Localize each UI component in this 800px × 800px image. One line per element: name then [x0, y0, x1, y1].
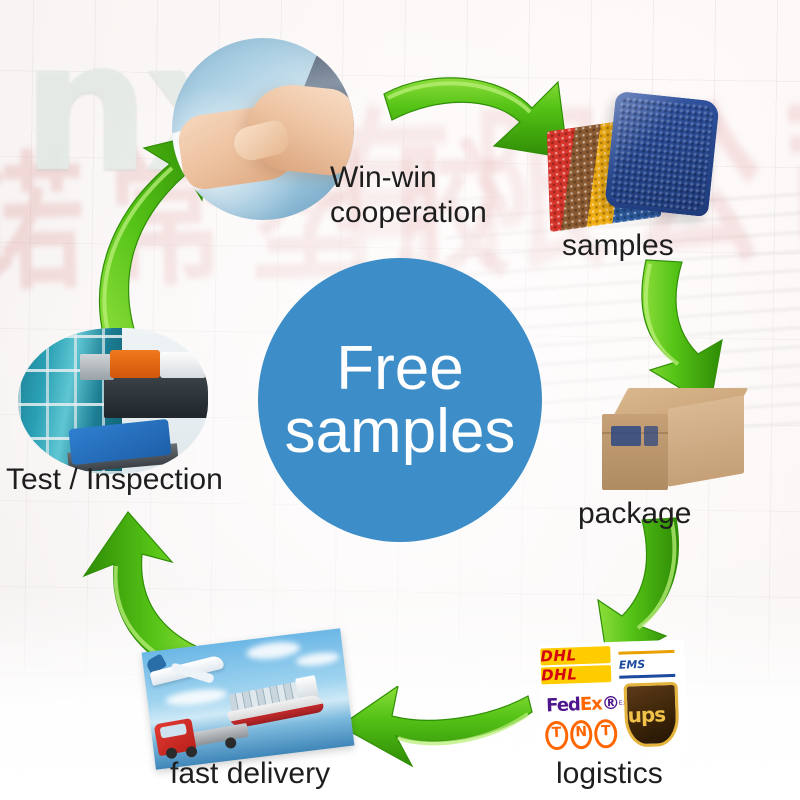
step-label-package: package — [578, 496, 691, 531]
step-image-win-win-cooperation[interactable] — [172, 38, 354, 220]
fedex-logo: FedEx® Express — [546, 690, 611, 718]
step-label-logistics: logistics — [556, 756, 663, 791]
step-image-samples[interactable] — [548, 96, 718, 236]
step-image-package[interactable] — [602, 388, 752, 498]
step-label-fast-delivery: fast delivery — [170, 756, 330, 791]
ups-logo: ups — [624, 682, 680, 748]
dhl-logo: DHL — [540, 646, 611, 665]
step-label-win-win-cooperation: Win-win cooperation — [330, 160, 487, 231]
truck-wheel-icon-3 — [225, 737, 237, 749]
step-image-logistics[interactable]: DHL DHL EMS FedEx® Express ups T N T — [538, 639, 688, 756]
cloud-icon-2 — [295, 651, 340, 668]
fragile-label-icon — [611, 426, 641, 446]
tnt-letter-t2: T — [594, 718, 618, 748]
center-badge-free-samples[interactable]: Free samples — [258, 258, 542, 542]
machine-clamp-icon — [80, 354, 114, 380]
fedex-logo-ex: Ex — [580, 694, 603, 714]
step-image-fast-delivery[interactable] — [142, 628, 355, 769]
arrow-logistics-to-delivery — [336, 686, 536, 786]
tnt-logo: T N T — [545, 720, 618, 748]
tnt-letter-t1: T — [545, 720, 569, 750]
arrow-samples-to-package — [618, 258, 758, 408]
machine-injector-icon — [160, 352, 206, 378]
step-image-test-inspection[interactable] — [18, 328, 208, 474]
ems-logo: EMS — [618, 650, 675, 679]
center-badge-line-2: samples — [285, 400, 516, 463]
cloud-icon-3 — [165, 687, 228, 708]
fedex-logo-reg: ® — [601, 693, 619, 713]
cloud-icon-1 — [246, 639, 302, 661]
box-right-face-icon — [668, 395, 744, 486]
step-label-samples: samples — [562, 228, 674, 263]
infographic-canvas: 诺常塑胶 有限公司 nx — [0, 0, 800, 800]
center-badge-line-1: Free — [336, 337, 463, 400]
injection-molding-machine-icon — [110, 350, 160, 378]
dhl-logo-2: DHL — [541, 665, 612, 684]
blue-pellet-bag-icon — [604, 91, 720, 217]
fedex-logo-fed: Fed — [546, 695, 580, 715]
truck-trailer-icon — [191, 723, 249, 747]
this-side-up-label-icon — [644, 426, 658, 446]
machine-base-icon — [104, 374, 208, 418]
tnt-letter-n: N — [569, 719, 593, 749]
step-label-test-inspection: Test / Inspection — [6, 462, 223, 497]
